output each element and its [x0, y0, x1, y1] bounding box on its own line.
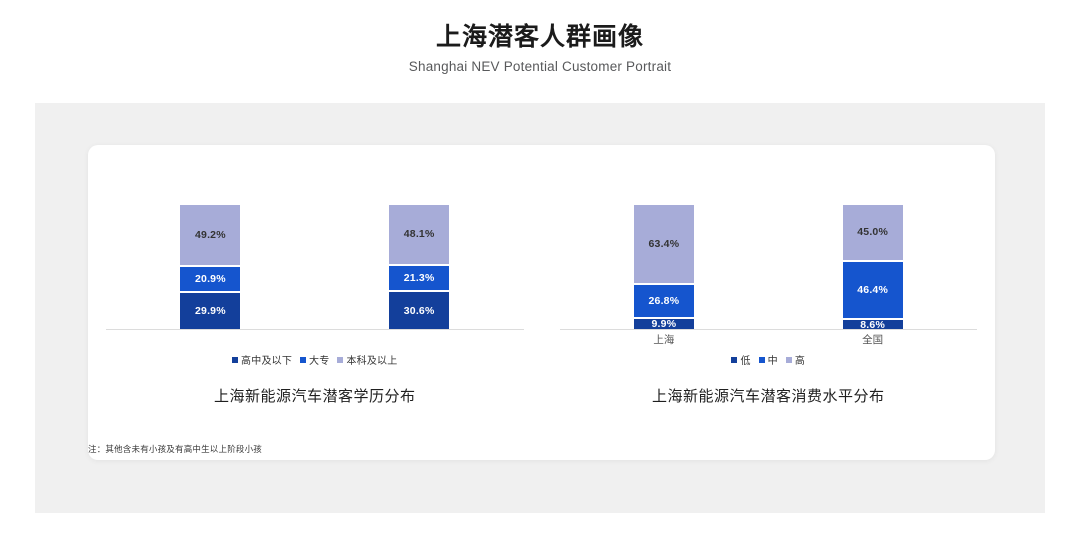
- legend-item[interactable]: 高: [786, 352, 805, 367]
- legend-swatch-icon: [759, 357, 765, 363]
- x-axis-line-consumption: [560, 329, 978, 330]
- bar-segment[interactable]: 26.8%: [633, 284, 695, 318]
- legend-swatch-icon: [337, 357, 343, 363]
- charts-container: 49.2%20.9%29.9%48.1%21.3%30.6% 高中及以下大专本科…: [88, 145, 995, 460]
- stacked-bar[interactable]: 45.0%46.4%8.6%: [842, 204, 904, 330]
- bar-segment-value: 20.9%: [195, 273, 226, 285]
- legend-label: 大专: [309, 352, 329, 367]
- stacked-bar[interactable]: 49.2%20.9%29.9%: [179, 204, 241, 330]
- legend-item[interactable]: 中: [759, 352, 778, 367]
- bar-segment-value: 46.4%: [857, 284, 888, 296]
- legend-swatch-icon: [731, 357, 737, 363]
- bar-segment-value: 9.9%: [652, 318, 677, 330]
- legend-item[interactable]: 高中及以下: [232, 352, 292, 367]
- x-tick-label: [179, 332, 241, 348]
- bar-segment[interactable]: 46.4%: [842, 261, 904, 319]
- legend-consumption: 低中高: [542, 352, 996, 367]
- bar-segment-value: 21.3%: [404, 272, 435, 284]
- stacked-bar[interactable]: 48.1%21.3%30.6%: [388, 204, 450, 330]
- legend-label: 高中及以下: [241, 352, 292, 367]
- x-tick-label: [388, 332, 450, 348]
- bar-segment[interactable]: 29.9%: [179, 292, 241, 330]
- legend-swatch-icon: [300, 357, 306, 363]
- legend-swatch-icon: [786, 357, 792, 363]
- legend-swatch-icon: [232, 357, 238, 363]
- x-axis-line-education: [106, 329, 524, 330]
- bar-segment[interactable]: 45.0%: [842, 204, 904, 261]
- chart-caption-education: 上海新能源汽车潜客学历分布: [88, 385, 542, 406]
- x-tick-labels-consumption: 上海全国: [560, 332, 978, 348]
- bar-segment[interactable]: 21.3%: [388, 265, 450, 292]
- legend-label: 高: [795, 352, 805, 367]
- bar-segment-value: 26.8%: [648, 295, 679, 307]
- bars-consumption: 63.4%26.8%9.9%45.0%46.4%8.6%: [560, 204, 978, 330]
- x-tick-labels-education: [106, 332, 524, 348]
- bar-segment-value: 48.1%: [404, 228, 435, 240]
- legend-label: 本科及以上: [346, 352, 397, 367]
- bar-segment-value: 29.9%: [195, 305, 226, 317]
- bar-segment[interactable]: 20.9%: [179, 266, 241, 292]
- bar-segment[interactable]: 63.4%: [633, 204, 695, 284]
- legend-label: 中: [768, 352, 778, 367]
- plot-area-consumption: 63.4%26.8%9.9%45.0%46.4%8.6%: [560, 190, 978, 330]
- legend-item[interactable]: 大专: [300, 352, 329, 367]
- page-subtitle: Shanghai NEV Potential Customer Portrait: [0, 59, 1080, 74]
- legend-item[interactable]: 本科及以上: [337, 352, 397, 367]
- page-header: 上海潜客人群画像 Shanghai NEV Potential Customer…: [0, 22, 1080, 74]
- legend-item[interactable]: 低: [731, 352, 750, 367]
- chart-caption-consumption: 上海新能源汽车潜客消费水平分布: [542, 385, 996, 406]
- bars-education: 49.2%20.9%29.9%48.1%21.3%30.6%: [106, 204, 524, 330]
- bar-segment-value: 30.6%: [404, 305, 435, 317]
- legend-education: 高中及以下大专本科及以上: [88, 352, 542, 367]
- bar-segment-value: 63.4%: [648, 238, 679, 250]
- plot-area-education: 49.2%20.9%29.9%48.1%21.3%30.6%: [106, 190, 524, 330]
- bar-segment[interactable]: 30.6%: [388, 291, 450, 330]
- x-tick-label: 全国: [842, 332, 904, 348]
- bar-segment[interactable]: 48.1%: [388, 204, 450, 265]
- x-tick-label: 上海: [633, 332, 695, 348]
- footnote: 注：其他含未有小孩及有高中生以上阶段小孩: [88, 443, 262, 455]
- page-title: 上海潜客人群画像: [0, 22, 1080, 53]
- chart-education: 49.2%20.9%29.9%48.1%21.3%30.6% 高中及以下大专本科…: [88, 145, 542, 460]
- bar-segment-value: 49.2%: [195, 229, 226, 241]
- stacked-bar[interactable]: 63.4%26.8%9.9%: [633, 204, 695, 330]
- chart-consumption: 63.4%26.8%9.9%45.0%46.4%8.6% 上海全国 低中高 上海…: [542, 145, 996, 460]
- bar-segment[interactable]: 49.2%: [179, 204, 241, 266]
- bar-segment-value: 45.0%: [857, 226, 888, 238]
- legend-label: 低: [740, 352, 750, 367]
